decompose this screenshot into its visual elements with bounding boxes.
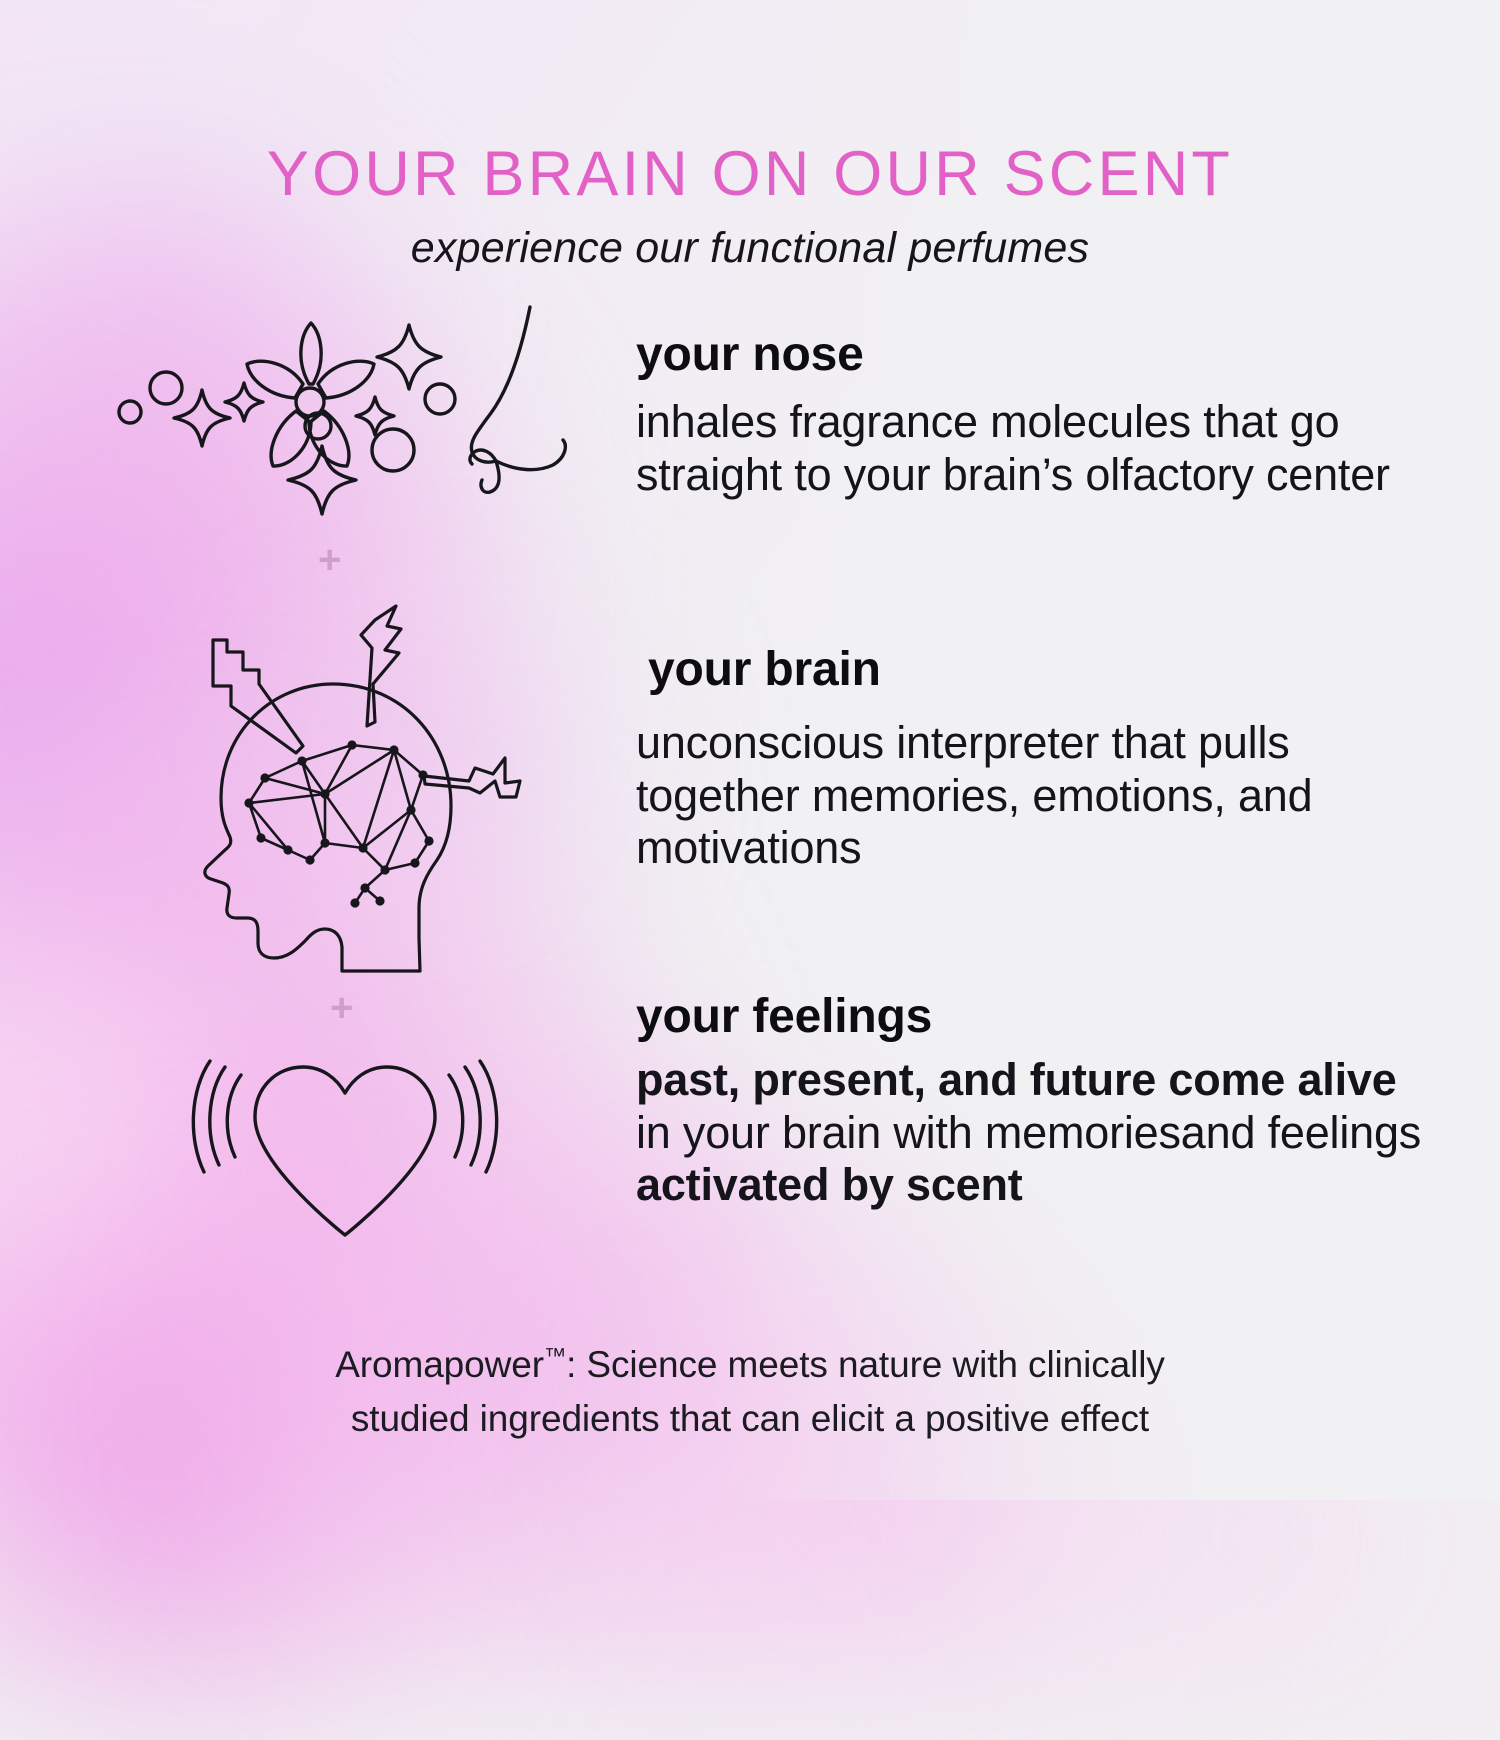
page-title: YOUR BRAIN ON OUR SCENT — [0, 138, 1500, 210]
block-your-nose: your nose inhales fragrance molecules th… — [636, 330, 1426, 501]
block-your-brain: your brain unconscious interpreter that … — [636, 645, 1426, 874]
block-your-feelings: your feelings past, present, and future … — [636, 992, 1436, 1211]
nose-profile-icon — [470, 307, 565, 492]
sparkle-5 — [377, 325, 441, 389]
brain-network-edges — [249, 745, 429, 903]
heading-your-brain: your brain — [648, 645, 1426, 695]
bubble-small-1 — [119, 401, 141, 423]
footer-brand: Aromapower — [335, 1344, 544, 1385]
vibration-arcs-left — [193, 1061, 241, 1172]
body-your-feelings: past, present, and future come alive in … — [636, 1054, 1436, 1211]
plus-separator-2: + — [330, 988, 353, 1028]
trademark-symbol: ™ — [544, 1344, 566, 1369]
heading-your-nose: your nose — [636, 330, 1426, 380]
footer-line2: studied ingredients that can elicit a po… — [351, 1398, 1149, 1439]
flower-icon — [247, 323, 374, 466]
head-brain-network-icon — [175, 598, 535, 973]
lightning-bolt-left — [213, 640, 303, 753]
sparkle-2 — [225, 383, 263, 421]
body-feelings-bold-1: past, present, and future come — [636, 1054, 1285, 1105]
lightning-bolt-right — [424, 758, 520, 797]
plus-separator-1: + — [318, 540, 341, 580]
page-subtitle: experience our functional perfumes — [0, 224, 1500, 273]
footer-note: Aromapower™: Science meets nature with c… — [0, 1338, 1500, 1445]
heart-outline — [255, 1067, 435, 1235]
footer-line1-rest: : Science meets nature with clinically — [566, 1344, 1165, 1385]
nose-sparkle-flower-icon — [110, 305, 610, 535]
infographic-page: YOUR BRAIN ON OUR SCENT experience our f… — [0, 0, 1500, 1500]
body-your-nose: inhales fragrance molecules that go stra… — [636, 396, 1426, 500]
lightning-bolt-top — [361, 606, 401, 726]
body-your-brain: unconscious interpreter that pulls toget… — [636, 717, 1426, 874]
bubble-small-5 — [372, 429, 414, 471]
bubble-small-4 — [425, 384, 455, 414]
head-outline — [205, 684, 451, 971]
heading-your-feelings: your feelings — [636, 992, 1436, 1042]
body-feelings-regular-2: and feelings — [1181, 1107, 1421, 1158]
vibrating-heart-icon — [185, 1035, 505, 1255]
body-feelings-regular-1: in your brain with memories — [636, 1107, 1181, 1158]
body-feelings-bold-2: alive — [1297, 1054, 1396, 1105]
bubble-small-2 — [150, 372, 182, 404]
body-feelings-bold-3: activated by scent — [636, 1159, 1023, 1210]
sparkle-1 — [174, 390, 230, 446]
vibration-arcs-right — [449, 1061, 497, 1172]
